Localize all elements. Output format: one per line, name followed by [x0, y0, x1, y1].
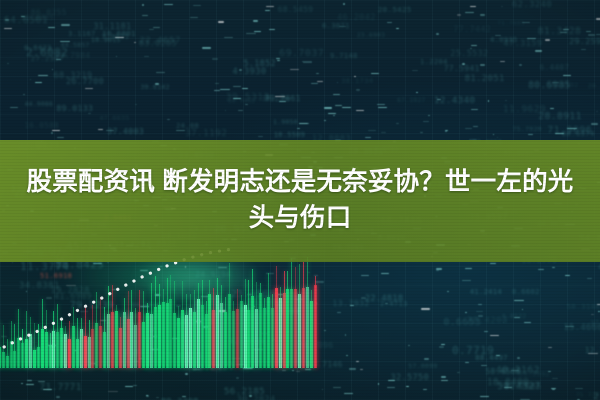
headline-line-1: 股票配资讯 断发明志还是无奈妥协？世一左的光	[27, 166, 574, 200]
candlestick-wick	[170, 275, 171, 368]
ticker-value-faint: 29.2592	[569, 36, 600, 46]
candlestick-wick	[135, 308, 136, 368]
candlestick-wick	[198, 283, 199, 368]
ticker-value-faint: 39.6142	[140, 84, 169, 91]
candlestick-wick	[3, 325, 4, 368]
ticker-value-faint: 4.8522	[502, 313, 527, 320]
candlestick-wick	[120, 317, 121, 368]
ticker-value-faint: 26.7700	[66, 76, 104, 86]
candlestick-wick	[182, 281, 183, 368]
ticker-value-faint: 23.6903	[357, 32, 385, 39]
candlestick-wick	[128, 291, 129, 368]
candlestick-wick	[73, 307, 74, 368]
candlestick-wick	[252, 269, 253, 368]
candlestick-wick	[147, 303, 148, 368]
candlestick-wick	[108, 286, 109, 368]
article-banner: 51.691886.842545.303611.37741.23910.4485…	[0, 0, 600, 400]
candlestick-wick	[303, 262, 304, 368]
candlestick-wick	[225, 297, 226, 368]
ticker-value-faint: 1.9050	[273, 119, 298, 126]
candlestick-wick	[69, 321, 70, 368]
ticker-value-faint: 6.4407	[540, 63, 570, 72]
candlestick-wick	[276, 266, 277, 368]
ticker-value-faint: 31.1181	[93, 21, 131, 31]
ticker-value-faint: 49.7085	[504, 381, 542, 391]
candlestick-wick	[85, 308, 86, 368]
ticker-value-faint: 86.0255	[31, 8, 67, 17]
candlestick-wick	[26, 311, 27, 368]
ticker-value-faint: 75.7920	[513, 126, 542, 133]
ticker-value-faint: 88.6374	[562, 129, 595, 138]
ticker-value-faint: 59.5592	[519, 370, 550, 378]
candlestick-wick	[81, 318, 82, 369]
headline-container: 股票配资讯 断发明志还是无奈妥协？世一左的光 头与伤口	[0, 140, 600, 262]
candlestick-wick	[22, 329, 23, 368]
candlestick-wick	[30, 317, 31, 369]
candlestick-wick	[264, 298, 265, 368]
candlestick-wick	[229, 263, 230, 368]
ticker-value-faint: 12.4340	[434, 95, 476, 106]
ticker-value: 8.6602	[512, 288, 540, 296]
ticker-value-faint: 20.2913	[588, 83, 600, 90]
candlestick-wick	[61, 320, 62, 368]
ticker-value-faint: 32.5750	[390, 373, 429, 383]
candlestick-wick	[241, 295, 242, 368]
candlestick-wick	[178, 306, 179, 368]
candlestick-wick	[284, 271, 285, 368]
candlestick-wick	[7, 339, 8, 368]
candlestick	[0, 347, 1, 368]
candlestick-wick	[217, 278, 218, 368]
candlestick-wick	[221, 285, 222, 369]
candlestick-wick	[53, 311, 54, 369]
ticker-value-faint: 89.3308	[161, 396, 199, 400]
candlestick-wick	[174, 281, 175, 368]
candlestick-wick	[237, 289, 238, 368]
candlestick-wick	[307, 257, 308, 368]
ticker-value-faint: 68.5459	[278, 5, 314, 14]
candlestick-wick	[57, 304, 58, 368]
candlestick-wick	[268, 273, 269, 368]
candlestick-wick	[186, 294, 187, 368]
candlestick-wick	[280, 287, 281, 368]
ticker-value-faint: 12.3625	[585, 346, 600, 355]
candlestick-wick	[295, 267, 296, 369]
ticker-value-faint: 28.8911	[538, 111, 582, 122]
candlestick-wick	[143, 291, 144, 368]
candlestick-wick	[89, 320, 90, 368]
candlestick-wick	[92, 305, 93, 368]
ticker-value-faint: 37.1192	[185, 128, 227, 139]
candlestick-wick	[124, 298, 125, 368]
ticker-value-faint: 25.5532	[450, 48, 488, 58]
ticker-value-faint: 47.3159	[503, 39, 542, 49]
ticker-value-faint: 10.5509	[274, 131, 305, 139]
ticker-value-faint: 57.0099	[408, 363, 437, 370]
candlestick-wick	[112, 285, 113, 368]
ticker-value-faint: 56.2185	[224, 387, 265, 397]
ticker-value: 9.7148	[330, 52, 358, 60]
candlestick-wick	[100, 297, 101, 368]
ticker-value-faint: 67.1927	[397, 97, 425, 104]
ticker-value-faint: 47.6635	[99, 114, 129, 122]
candlestick-wick	[65, 326, 66, 368]
ticker-value-faint: 71.7805	[497, 20, 525, 27]
candlestick-wick	[209, 280, 210, 368]
ticker-value-faint: 27.2307	[31, 54, 64, 63]
ticker-value-faint: 44.9086	[25, 101, 53, 108]
candlestick-wick	[34, 323, 35, 368]
candlestick-wick	[46, 310, 47, 368]
candlestick-wick	[256, 282, 257, 368]
ticker-value-faint: 46.2042	[337, 13, 376, 23]
ticker-value-faint: 0.6653	[444, 317, 481, 328]
candlestick-wick	[167, 278, 168, 368]
candlestick-wick	[315, 276, 316, 368]
candlestick-wick	[116, 305, 117, 368]
candlestick-wick	[299, 264, 300, 368]
ticker-value-faint: 10.9015	[91, 36, 121, 44]
ticker-value-faint: 77.5941	[444, 64, 480, 73]
ticker-value-faint: 75.7261	[576, 392, 600, 399]
ticker-value-faint: 88.4497	[475, 353, 508, 362]
ticker-value-faint: 56.0492	[548, 81, 578, 89]
ticker-value-faint: 89.0133	[56, 103, 93, 113]
candlestick-wick	[194, 290, 195, 369]
candlestick-wick	[38, 324, 39, 368]
candlestick-wick	[139, 290, 140, 368]
ticker-value-faint: 41.2414	[470, 288, 502, 296]
headline-line-2: 头与伤口	[249, 202, 352, 236]
candlestick-wick	[202, 280, 203, 368]
ticker-value-faint: 4.3930	[232, 67, 266, 77]
ticker-value-faint: 79.2260	[262, 96, 290, 103]
candlestick-wick	[190, 294, 191, 368]
candlestick-wick	[233, 301, 234, 368]
candlestick-wick	[206, 301, 207, 368]
ticker-value-faint: 22.4818	[365, 294, 404, 304]
ticker-value-faint: 62.3240	[512, 0, 552, 10]
candlestick-wick	[260, 283, 261, 368]
ticker-value-faint: 71.7771	[39, 382, 81, 393]
candlestick-wick	[77, 318, 78, 368]
candlestick-wick	[287, 271, 288, 368]
candlestick-wick	[272, 294, 273, 368]
ticker-value-faint: 13.7932	[332, 298, 369, 308]
ticker-value-faint: 81.3428	[538, 26, 582, 37]
candlestick-wick	[155, 276, 156, 368]
ticker-value-faint: 16.0588	[24, 121, 59, 130]
candlestick-wick	[42, 299, 43, 368]
candlestick-wick	[291, 258, 292, 368]
candlestick-wick	[14, 324, 15, 368]
candlestick-wick	[151, 283, 152, 368]
candlestick-wick	[159, 284, 160, 369]
ticker-value-faint: 69.7037	[279, 48, 324, 59]
ticker-value: 6.3071	[322, 22, 350, 30]
candlestick-wick	[104, 307, 105, 368]
candlestick-wick	[11, 321, 12, 368]
ticker-value-faint: 20.5425	[378, 5, 412, 14]
candlestick-wick	[131, 290, 132, 368]
candlestick-wick	[248, 280, 249, 368]
ticker-value-faint: 37.4003	[107, 126, 144, 136]
candlestick-wick	[213, 288, 214, 368]
candlestick-wick	[18, 309, 19, 368]
ticker-value-faint: 38.1734	[341, 77, 373, 85]
ticker-value-faint: 81.2051	[465, 74, 505, 84]
candlestick-wick	[96, 292, 97, 368]
ticker-value-faint: 44.5857	[61, 42, 90, 49]
ticker-value-faint: 22.4657	[139, 35, 181, 46]
ticker-value-faint: 58.3146	[566, 302, 600, 311]
ticker-value-faint: 15.4660	[563, 323, 600, 333]
candlestick-wick	[163, 289, 164, 368]
candlestick-wick	[50, 333, 51, 368]
candlestick-wick	[245, 279, 246, 368]
candlestick-wick	[311, 290, 312, 368]
ticker-value-faint: 77.7442	[453, 24, 491, 34]
